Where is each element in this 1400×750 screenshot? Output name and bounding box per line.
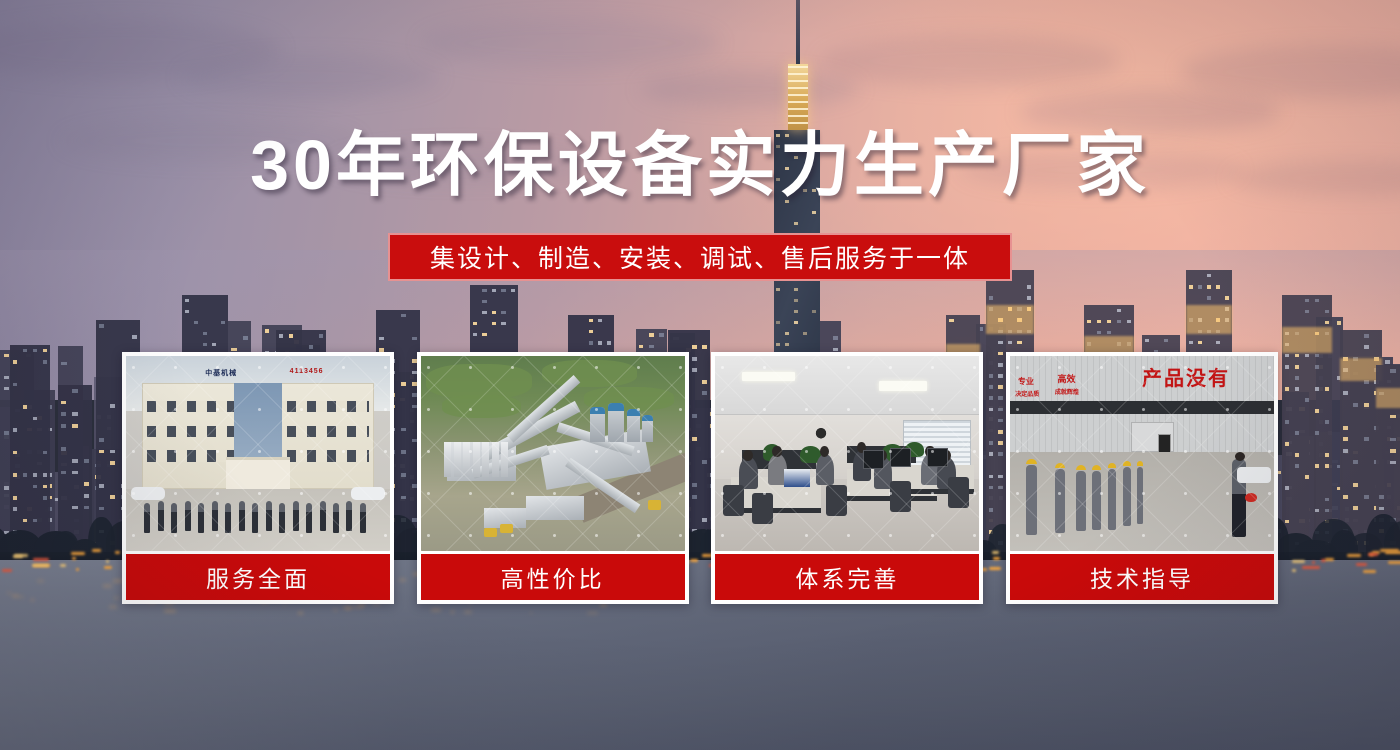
promotional-banner: 30年环保设备实力生产厂家 集设计、制造、安装、调试、售后服务于一体 中基机械: [0, 0, 1400, 750]
subtitle-banner: 集设计、制造、安装、调试、售后服务于一体: [388, 233, 1012, 281]
card-photo-factory-workers: 产品没有 专业 高效 决定品质 成就辉煌: [1010, 356, 1274, 551]
card-caption-service: 服务全面: [126, 554, 390, 600]
feature-card-service[interactable]: 中基机械 4113456 服务全面: [122, 352, 394, 604]
feature-card-system[interactable]: 体系完善: [711, 352, 983, 604]
card-photo-office-interior: [715, 356, 979, 551]
feature-card-value[interactable]: 高性价比: [417, 352, 689, 604]
card-caption-value: 高性价比: [421, 554, 685, 600]
feature-card-training[interactable]: 产品没有 专业 高效 决定品质 成就辉煌 技术指导: [1006, 352, 1278, 604]
subtitle-text: 集设计、制造、安装、调试、售后服务于一体: [430, 239, 970, 275]
feature-card-row: 中基机械 4113456 服务全面 高性价比: [122, 352, 1278, 604]
page-title: 30年环保设备实力生产厂家: [0, 130, 1400, 200]
card-caption-system: 体系完善: [715, 554, 979, 600]
card-photo-company-building: 中基机械 4113456: [126, 356, 390, 551]
card-caption-training: 技术指导: [1010, 554, 1274, 600]
card-photo-industrial-plant: [421, 356, 685, 551]
